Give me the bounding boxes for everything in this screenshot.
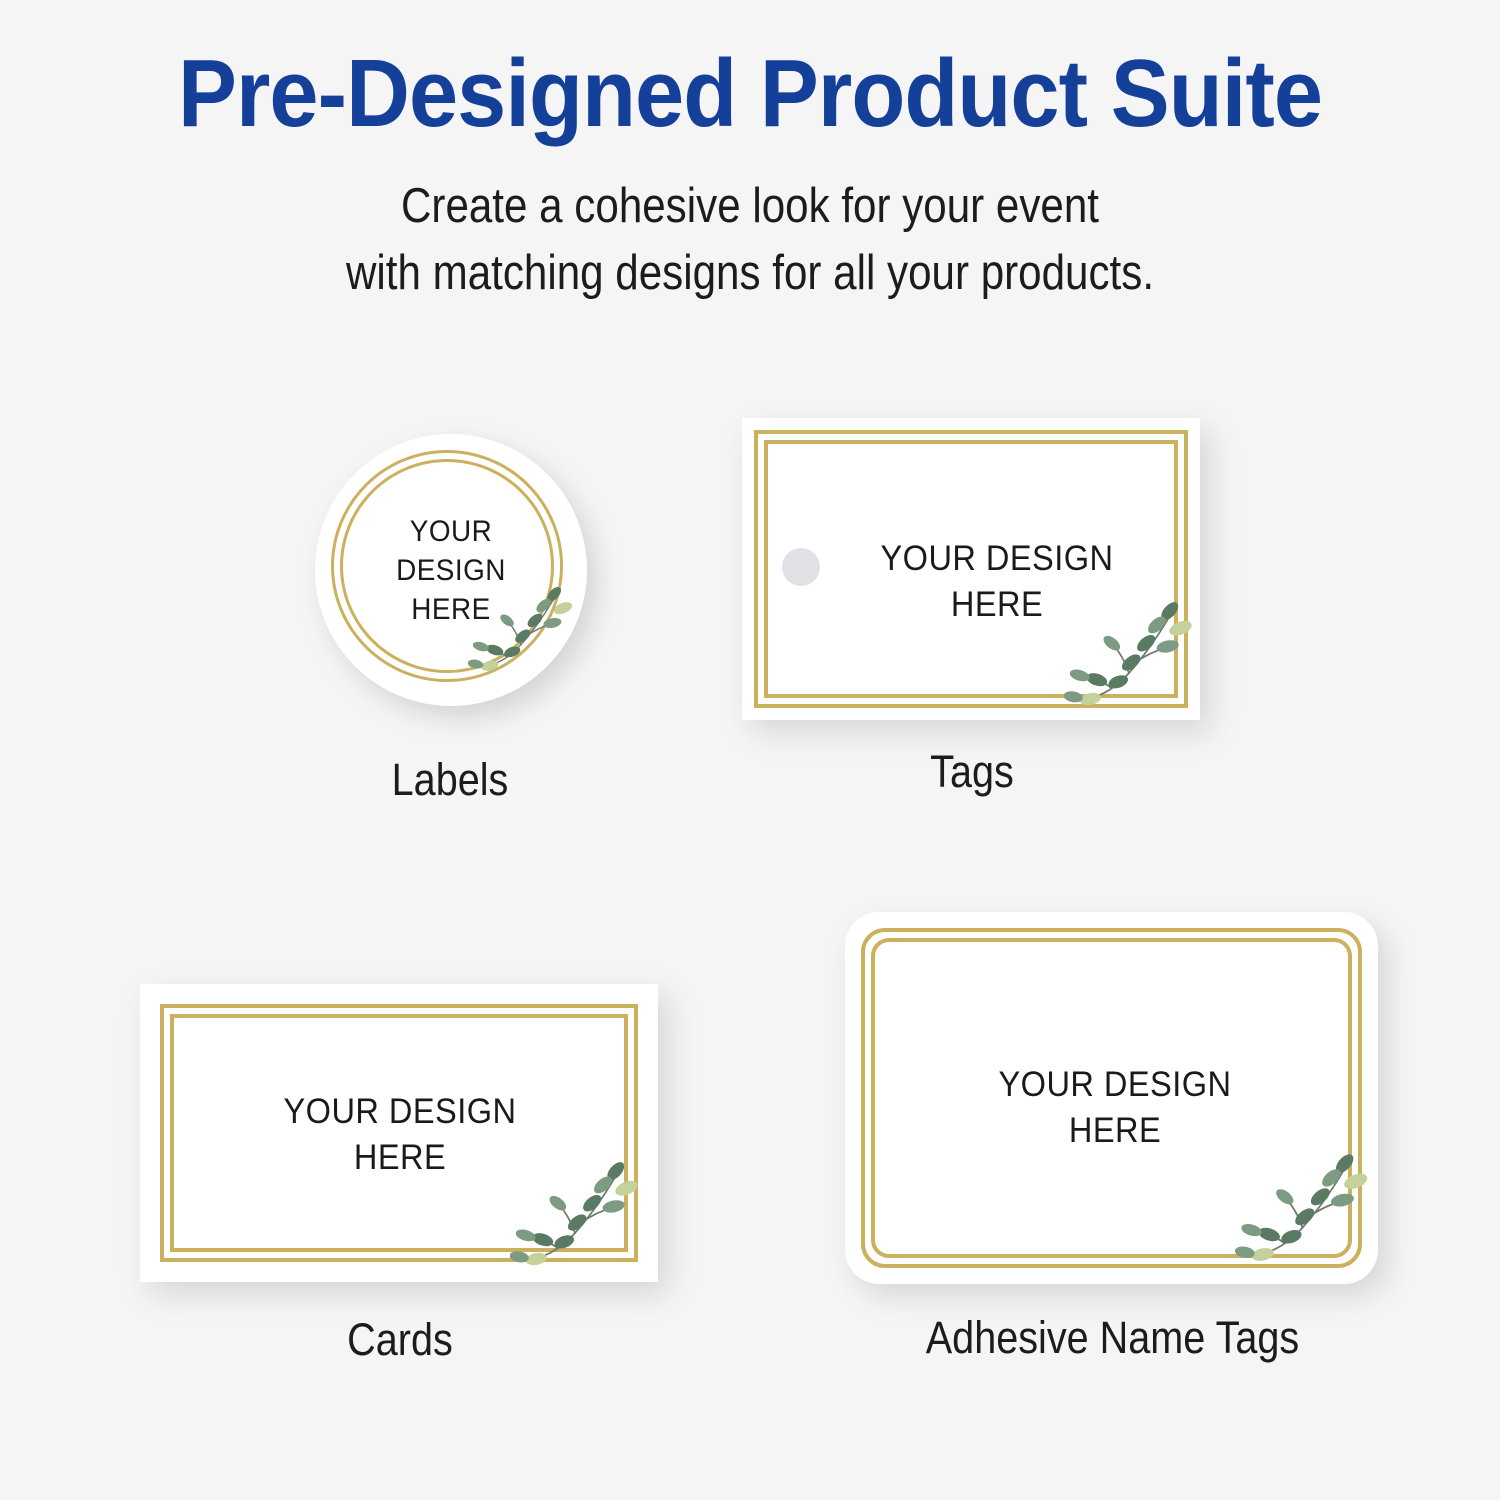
product-caption-adhesive-name-tags: Adhesive Name Tags (877, 1312, 1348, 1364)
gold-frame-inner (871, 938, 1352, 1258)
product-tags[interactable]: YOUR DESIGN HERE (742, 418, 1202, 723)
product-adhesive-name-tags[interactable]: YOUR DESIGN HERE (845, 912, 1380, 1287)
adhesive-name-tag-mockup: YOUR DESIGN HERE (845, 912, 1378, 1284)
punch-hole-icon (782, 548, 820, 586)
card-mockup: YOUR DESIGN HERE (140, 984, 658, 1282)
product-caption-cards: Cards (171, 1314, 629, 1366)
gold-frame-inner (170, 1014, 628, 1252)
product-labels[interactable]: YOUR DESIGN HERE (300, 424, 600, 724)
product-caption-labels: Labels (318, 754, 582, 806)
circle-label-mockup: YOUR DESIGN HERE (315, 434, 587, 706)
product-caption-tags: Tags (770, 746, 1175, 798)
gold-ring-inner (340, 459, 554, 673)
product-cards[interactable]: YOUR DESIGN HERE (140, 984, 660, 1284)
gold-frame-inner (764, 440, 1178, 698)
product-grid: YOUR DESIGN HERE (0, 0, 1500, 1500)
tag-mockup: YOUR DESIGN HERE (742, 418, 1200, 720)
